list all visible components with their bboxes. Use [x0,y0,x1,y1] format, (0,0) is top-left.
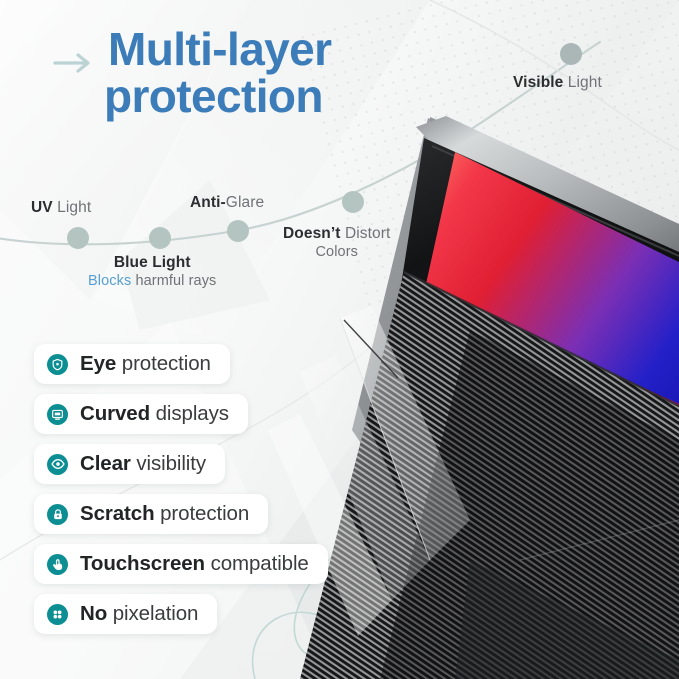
feature-label-curved-displays: Curved displays [80,402,229,426]
feature-bold-1: Curved [80,402,150,425]
monitor-icon [47,404,68,425]
eye-icon [47,454,68,475]
feature-pill-eye-protection[interactable]: Eye protection [34,344,230,384]
callout-anti-glare-rest: Glare [226,194,264,211]
node-dot-anti-glare [227,220,249,242]
feature-pill-curved-displays[interactable]: Curved displays [34,394,248,434]
arrow-right-icon [53,52,95,74]
callout-blue-light-sub-prefix: Blocks [88,273,131,289]
feature-label-no-pixelation: No pixelation [80,602,198,626]
callout-distort-rest: Distort [341,225,391,242]
node-dot-blue-light [149,227,171,249]
feature-pill-no-pixelation[interactable]: No pixelation [34,594,217,634]
page-title: Multi-layer protection [108,26,538,120]
callout-label-uv-light: UV Light [31,199,91,217]
grid-dots-icon [47,604,68,625]
callout-label-doesnt-distort-colors: Doesn’t Distort Colors [283,225,390,260]
feature-list: Eye protection Curved displays Clear vis… [34,344,328,644]
callout-blue-light-bold: Blue Light [114,254,191,271]
callout-visible-light-bold: Visible [513,74,563,91]
feature-rest-5: pixelation [107,602,198,625]
callout-blue-light-sub: Blocks harmful rays [88,273,216,289]
feature-bold-2: Clear [80,452,131,475]
feature-bold-0: Eye [80,352,116,375]
feature-label-scratch-protection: Scratch protection [80,502,249,526]
callout-distort-sub: Colors [283,244,390,260]
node-dot-doesnt-distort [342,191,364,213]
infographic-canvas: Multi-layer protection UV Light Blue Lig… [0,0,679,679]
callout-distort-bold: Doesn’t [283,225,341,242]
callout-uv-light-bold: UV [31,199,53,216]
feature-pill-scratch-protection[interactable]: Scratch protection [34,494,268,534]
feature-bold-4: Touchscreen [80,552,205,575]
feature-label-eye-protection: Eye protection [80,352,211,376]
feature-rest-3: protection [155,502,250,525]
feature-rest-0: protection [116,352,211,375]
callout-uv-light-rest: Light [53,199,92,216]
title-line-1: Multi-layer [108,23,331,75]
node-dot-uv-light [67,227,89,249]
callout-label-blue-light: Blue Light Blocks harmful rays [88,254,216,289]
lock-icon [47,504,68,525]
node-dot-visible-light [560,43,582,65]
touch-hand-icon [47,554,68,575]
callout-anti-glare-bold: Anti- [190,194,226,211]
callout-label-visible-light: Visible Light [513,74,602,92]
feature-pill-touchscreen-compatible[interactable]: Touchscreen compatible [34,544,328,584]
callout-blue-light-sub-rest: harmful rays [131,273,216,289]
feature-bold-3: Scratch [80,502,155,525]
shield-check-icon [47,354,68,375]
feature-rest-2: visibility [131,452,206,475]
feature-label-touchscreen-compatible: Touchscreen compatible [80,552,309,576]
title-line-2: protection [104,73,538,120]
feature-rest-4: compatible [205,552,309,575]
feature-label-clear-visibility: Clear visibility [80,452,206,476]
feature-rest-1: displays [150,402,229,425]
callout-label-anti-glare: Anti-Glare [190,194,264,212]
feature-bold-5: No [80,602,107,625]
callout-visible-light-rest: Light [563,74,602,91]
feature-pill-clear-visibility[interactable]: Clear visibility [34,444,225,484]
